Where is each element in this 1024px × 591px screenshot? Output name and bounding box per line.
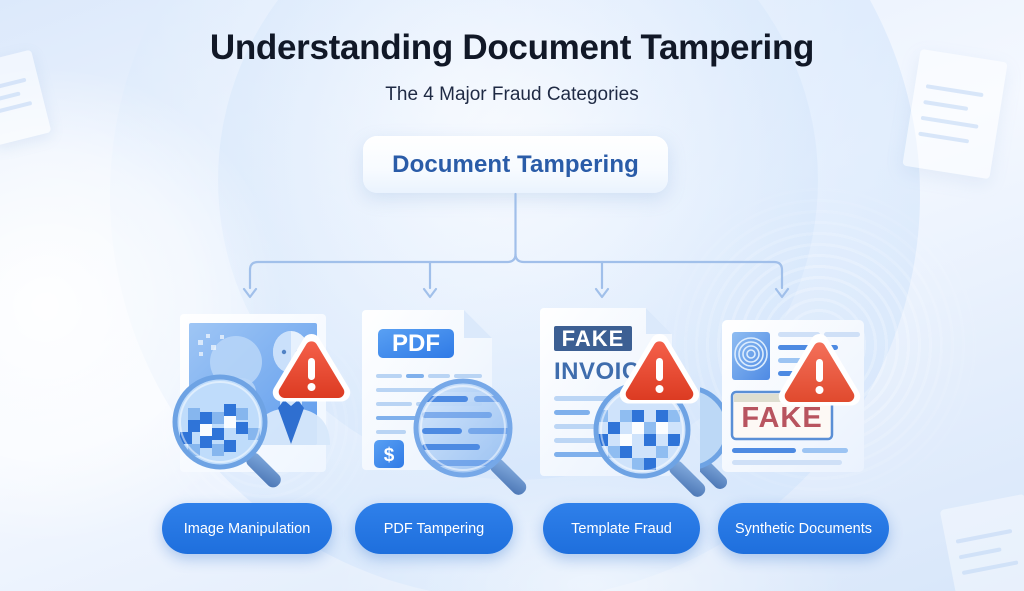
magnifier-icon	[416, 381, 529, 498]
fake-stamp-label: FAKE	[741, 402, 822, 434]
pill-label: Image Manipulation	[184, 521, 311, 537]
illustration-synthetic-documents: FAKE	[700, 300, 900, 500]
fake-highlight: FAKE	[554, 326, 632, 351]
pill-template-fraud[interactable]: Template Fraud	[543, 503, 700, 554]
pill-pdf-tampering[interactable]: PDF Tampering	[355, 503, 513, 554]
pill-label: Synthetic Documents	[735, 521, 872, 537]
connector-lines	[0, 0, 1024, 591]
pill-label: Template Fraud	[571, 521, 672, 537]
pdf-badge-label: PDF	[392, 330, 440, 357]
pdf-badge: PDF	[378, 329, 454, 358]
dollar-badge-label: $	[384, 445, 395, 466]
pill-image-manipulation[interactable]: Image Manipulation	[162, 503, 332, 554]
pill-synthetic-documents[interactable]: Synthetic Documents	[718, 503, 889, 554]
dollar-badge: $	[374, 440, 404, 468]
illustration-image-manipulation	[158, 300, 358, 500]
infographic-canvas: Understanding Document Tampering The 4 M…	[0, 0, 1024, 591]
fake-highlight-label: FAKE	[562, 326, 625, 351]
illustration-pdf-tampering: PDF $	[348, 300, 548, 500]
fingerprint-seal	[732, 332, 770, 380]
pill-label: PDF Tampering	[384, 521, 484, 537]
